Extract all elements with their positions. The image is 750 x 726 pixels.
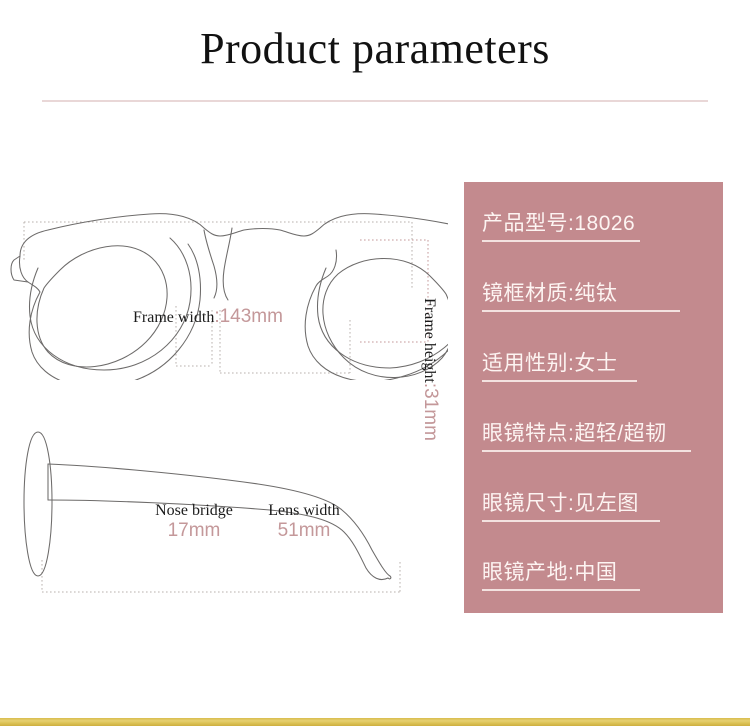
spec-row-text: 适用性别:女士 <box>482 347 710 377</box>
spec-row-text: 眼镜特点:超轻/超韧 <box>482 417 710 447</box>
label-frame-width: Frame width:143mm <box>133 306 283 328</box>
nose-bridge-text: Nose bridge <box>155 502 233 519</box>
label-nose-bridge: Nose bridge 17mm <box>150 502 238 542</box>
spec-row-divider <box>482 450 691 452</box>
spec-row-model: 产品型号:18026 <box>482 207 710 237</box>
frame-height-text: Frame height <box>421 298 438 383</box>
spec-row-frame-material: 镜框材质:纯钛 <box>482 277 710 307</box>
bottom-gold-band <box>0 718 750 726</box>
spec-row-divider <box>482 310 680 312</box>
spec-row-origin: 眼镜产地:中国 <box>482 556 710 586</box>
page-title: Product parameters <box>0 22 750 76</box>
frame-width-value: :143mm <box>214 306 283 327</box>
label-lens-width: Lens width 51mm <box>258 502 350 542</box>
spec-row-text: 眼镜尺寸:见左图 <box>482 487 710 517</box>
spec-row-divider <box>482 589 640 591</box>
nose-bridge-value: 17mm <box>150 520 238 542</box>
frame-height-value: :31mm <box>420 383 441 441</box>
frame-width-text: Frame width <box>133 309 214 326</box>
dimension-diagram: Frame width:143mm Frame height:31mm Nose… <box>0 140 460 650</box>
title-divider <box>42 100 708 102</box>
spec-row-gender: 适用性别:女士 <box>482 347 710 377</box>
spec-row-text: 眼镜产地:中国 <box>482 556 710 586</box>
spec-panel: 产品型号:18026 镜框材质:纯钛 适用性别:女士 眼镜特点:超轻/超韧 眼镜… <box>464 182 723 613</box>
product-parameters-page: Product parameters <box>0 0 750 726</box>
spec-row-divider <box>482 240 640 242</box>
spec-row-divider <box>482 380 637 382</box>
spec-row-features: 眼镜特点:超轻/超韧 <box>482 417 710 447</box>
spec-row-divider <box>482 520 660 522</box>
lens-width-text: Lens width <box>268 502 340 519</box>
lens-width-value: 51mm <box>258 520 350 542</box>
spec-row-text: 镜框材质:纯钛 <box>482 277 710 307</box>
spec-row-size: 眼镜尺寸:见左图 <box>482 487 710 517</box>
spec-list: 产品型号:18026 镜框材质:纯钛 适用性别:女士 眼镜特点:超轻/超韧 眼镜… <box>464 182 723 613</box>
spec-row-text: 产品型号:18026 <box>482 207 710 237</box>
glasses-front-view <box>8 170 448 380</box>
